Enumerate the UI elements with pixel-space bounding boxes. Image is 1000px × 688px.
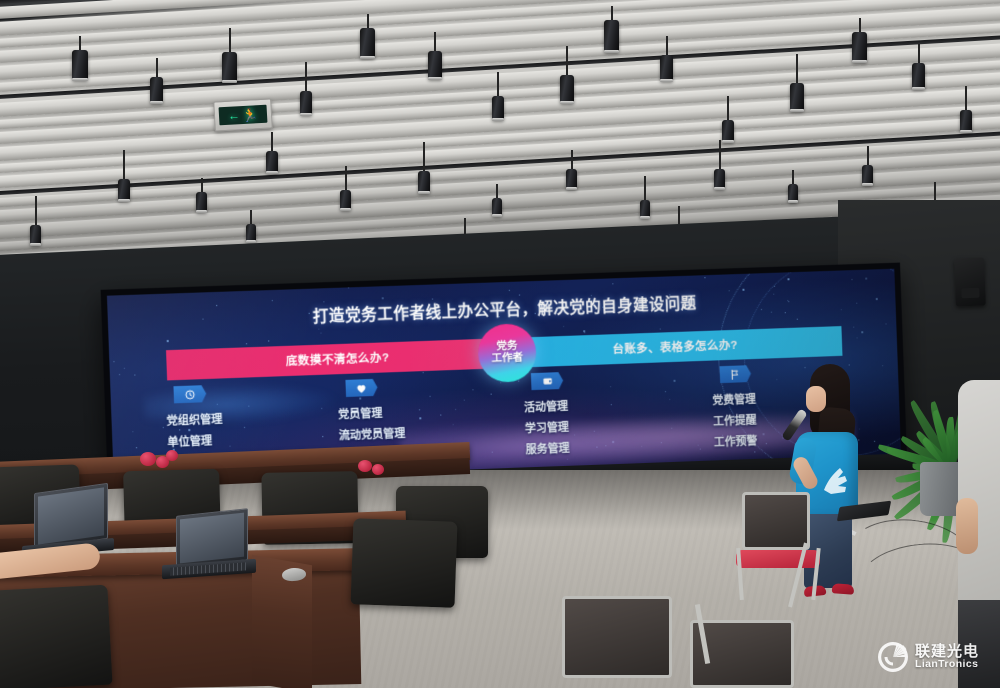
lamp-cord bbox=[250, 210, 252, 224]
office-chair-6[interactable] bbox=[351, 518, 458, 608]
lamp-body bbox=[660, 55, 673, 81]
lamp-body bbox=[960, 110, 972, 132]
lamp-cord bbox=[918, 44, 920, 63]
lamp-lens bbox=[340, 208, 351, 211]
lamp-lens bbox=[560, 101, 574, 104]
flower-decor-3 bbox=[166, 450, 178, 461]
track-spotlight bbox=[566, 150, 577, 196]
track-spotlight bbox=[360, 14, 375, 70]
lamp-lens bbox=[852, 60, 867, 63]
wall-speaker bbox=[954, 257, 986, 306]
hub-line-2: 工作者 bbox=[491, 352, 523, 365]
lamp-body bbox=[912, 63, 925, 89]
lamp-body bbox=[222, 52, 237, 82]
lamp-body bbox=[340, 190, 351, 210]
exit-sign: ← 🏃 bbox=[213, 98, 273, 131]
track-spotlight bbox=[852, 18, 867, 74]
lamp-body bbox=[30, 225, 41, 245]
lamp-cord bbox=[271, 132, 273, 151]
lamp-body bbox=[722, 120, 734, 142]
feature-item: 服务管理 bbox=[525, 439, 569, 457]
lamp-cord bbox=[156, 58, 158, 77]
lamp-cord bbox=[859, 18, 861, 32]
lamp-cord bbox=[423, 142, 425, 171]
lamp-cord bbox=[666, 36, 668, 55]
watermark: 联建光电 LianTronics bbox=[876, 640, 979, 674]
presenter-shoe-right bbox=[832, 583, 855, 595]
lamp-lens bbox=[566, 187, 577, 190]
lamp-lens bbox=[960, 130, 972, 133]
lamp-cord bbox=[796, 54, 798, 83]
lamp-cord bbox=[305, 62, 307, 91]
lamp-body bbox=[566, 169, 577, 189]
lamp-lens bbox=[790, 109, 804, 112]
track-spotlight bbox=[340, 166, 351, 212]
track-spotlight bbox=[222, 28, 237, 84]
track-spotlight bbox=[722, 96, 734, 144]
running-man-exit-icon: 🏃 bbox=[242, 108, 259, 122]
shirt-graphic bbox=[818, 460, 852, 500]
lamp-lens bbox=[912, 87, 925, 90]
feature-item: 流动党员管理 bbox=[339, 424, 406, 443]
track-spotlight bbox=[960, 86, 972, 134]
office-chair-5[interactable] bbox=[0, 585, 113, 688]
track-spotlight bbox=[300, 62, 312, 112]
lamp-cord bbox=[965, 86, 967, 110]
lamp-lens bbox=[428, 77, 442, 80]
lamp-cord bbox=[727, 96, 729, 120]
chair-seat bbox=[736, 550, 820, 568]
lamp-body bbox=[196, 192, 207, 212]
shell-swirl-logo-icon bbox=[876, 640, 910, 674]
flower-decor-5 bbox=[372, 464, 384, 475]
feature-item: 党费管理 bbox=[712, 390, 756, 408]
flower-decor-1 bbox=[140, 452, 156, 466]
lamp-lens bbox=[492, 214, 502, 217]
laptop-keyboard bbox=[170, 562, 246, 575]
lamp-lens bbox=[300, 113, 312, 116]
attendee-right-arm bbox=[956, 498, 978, 554]
track-spotlight bbox=[150, 58, 163, 110]
lamp-body bbox=[862, 165, 873, 185]
lamp-body bbox=[300, 91, 312, 115]
track-spotlight bbox=[790, 54, 804, 108]
lamp-lens bbox=[360, 56, 375, 59]
track-spotlight bbox=[788, 170, 798, 214]
lamp-cord bbox=[345, 166, 347, 190]
lamp-cord bbox=[497, 72, 499, 96]
lamp-body bbox=[560, 75, 574, 103]
track-spotlight bbox=[30, 196, 41, 242]
track-spotlight bbox=[196, 178, 207, 224]
lamp-body bbox=[604, 20, 619, 52]
chair-back bbox=[562, 596, 672, 678]
banner-left-label: 底数摸不清怎么办? bbox=[286, 349, 390, 369]
track-spotlight bbox=[428, 32, 442, 86]
watermark-text: 联建光电 LianTronics bbox=[915, 644, 979, 670]
track-spotlight bbox=[714, 140, 725, 186]
screenshot-scene: ← 🏃 打造党务工作者线上办公平台，解决党的自身建设问题 底数摸不清怎么办? 台… bbox=[0, 0, 1000, 688]
lamp-lens bbox=[492, 118, 504, 121]
lamp-body bbox=[852, 32, 867, 62]
lamp-lens bbox=[714, 187, 725, 190]
banner-right: 台账多、表格多怎么办? bbox=[507, 326, 843, 368]
track-spotlight bbox=[640, 176, 650, 220]
clock-badge-icon bbox=[173, 385, 206, 403]
track-spotlight bbox=[604, 6, 619, 64]
banner-right-label: 台账多、表格多怎么办? bbox=[612, 337, 738, 357]
lamp-lens bbox=[660, 79, 673, 82]
lamp-lens bbox=[72, 78, 88, 81]
lamp-body bbox=[492, 96, 504, 120]
banner-left: 底数摸不清怎么办? bbox=[166, 338, 508, 380]
track-spotlight bbox=[266, 132, 278, 180]
laptop-screen bbox=[180, 513, 244, 564]
laptop-lid bbox=[176, 508, 248, 568]
lamp-cord bbox=[123, 150, 125, 179]
lamp-cord bbox=[367, 14, 369, 28]
track-spotlight bbox=[418, 142, 430, 190]
lamp-body bbox=[714, 169, 725, 189]
lamp-cord bbox=[566, 46, 568, 75]
lamp-cord bbox=[229, 28, 231, 52]
lamp-lens bbox=[862, 183, 873, 186]
lamp-lens bbox=[418, 191, 430, 194]
feature-item: 单位管理 bbox=[167, 432, 212, 450]
lamp-lens bbox=[604, 50, 619, 53]
feature-item: 学习管理 bbox=[525, 418, 569, 436]
lamp-lens bbox=[222, 80, 237, 83]
feature-item: 党组织管理 bbox=[166, 410, 222, 428]
track-spotlight bbox=[560, 46, 574, 100]
chair-back bbox=[742, 492, 810, 550]
lamp-lens bbox=[150, 101, 163, 104]
feature-column-3: 活动管理 学习管理 服务管理 bbox=[493, 368, 681, 461]
feature-item: 工作预警 bbox=[714, 432, 758, 450]
track-spotlight bbox=[492, 184, 502, 228]
watermark-en: LianTronics bbox=[915, 659, 979, 670]
lamp-body bbox=[150, 77, 163, 103]
lamp-cord bbox=[867, 146, 869, 165]
watermark-cn: 联建光电 bbox=[915, 644, 979, 659]
lamp-cord bbox=[792, 170, 794, 184]
flower-decor-4 bbox=[358, 460, 372, 472]
track-spotlight bbox=[862, 146, 873, 192]
lamp-cord bbox=[611, 6, 613, 20]
lamp-body bbox=[428, 51, 442, 79]
track-spotlight bbox=[118, 150, 130, 198]
lamp-lens bbox=[30, 243, 41, 246]
lamp-lens bbox=[266, 171, 278, 174]
track-spotlight bbox=[72, 36, 88, 92]
feature-item: 工作提醒 bbox=[713, 411, 757, 429]
feature-item: 党员管理 bbox=[338, 404, 383, 422]
lamp-cord bbox=[201, 178, 203, 192]
lamp-cord bbox=[496, 184, 498, 198]
heart-badge-icon bbox=[345, 379, 378, 397]
lamp-lens bbox=[788, 200, 798, 203]
lamp-lens bbox=[640, 216, 650, 219]
lamp-lens bbox=[118, 199, 130, 202]
lamp-cord bbox=[35, 196, 37, 225]
feature-item: 活动管理 bbox=[524, 397, 568, 415]
lamp-body bbox=[118, 179, 130, 201]
lamp-cord bbox=[571, 150, 573, 169]
wallet-badge-icon bbox=[531, 372, 564, 390]
lamp-lens bbox=[196, 210, 207, 213]
exit-sign-panel: ← 🏃 bbox=[219, 105, 267, 126]
laptop-screen bbox=[38, 487, 104, 544]
lamp-body bbox=[418, 171, 430, 193]
lamp-body bbox=[790, 83, 804, 111]
lamp-cord bbox=[79, 36, 81, 50]
lamp-cord bbox=[719, 140, 721, 169]
track-spotlight bbox=[492, 72, 504, 122]
arrow-left-icon: ← bbox=[228, 109, 241, 122]
flag-badge-icon bbox=[719, 365, 751, 383]
track-spotlight bbox=[912, 44, 925, 96]
lamp-body bbox=[72, 50, 88, 80]
lamp-body bbox=[360, 28, 375, 58]
lamp-cord bbox=[434, 32, 436, 51]
lamp-cord bbox=[644, 176, 646, 200]
lamp-body bbox=[266, 151, 278, 173]
track-spotlight bbox=[660, 36, 673, 88]
